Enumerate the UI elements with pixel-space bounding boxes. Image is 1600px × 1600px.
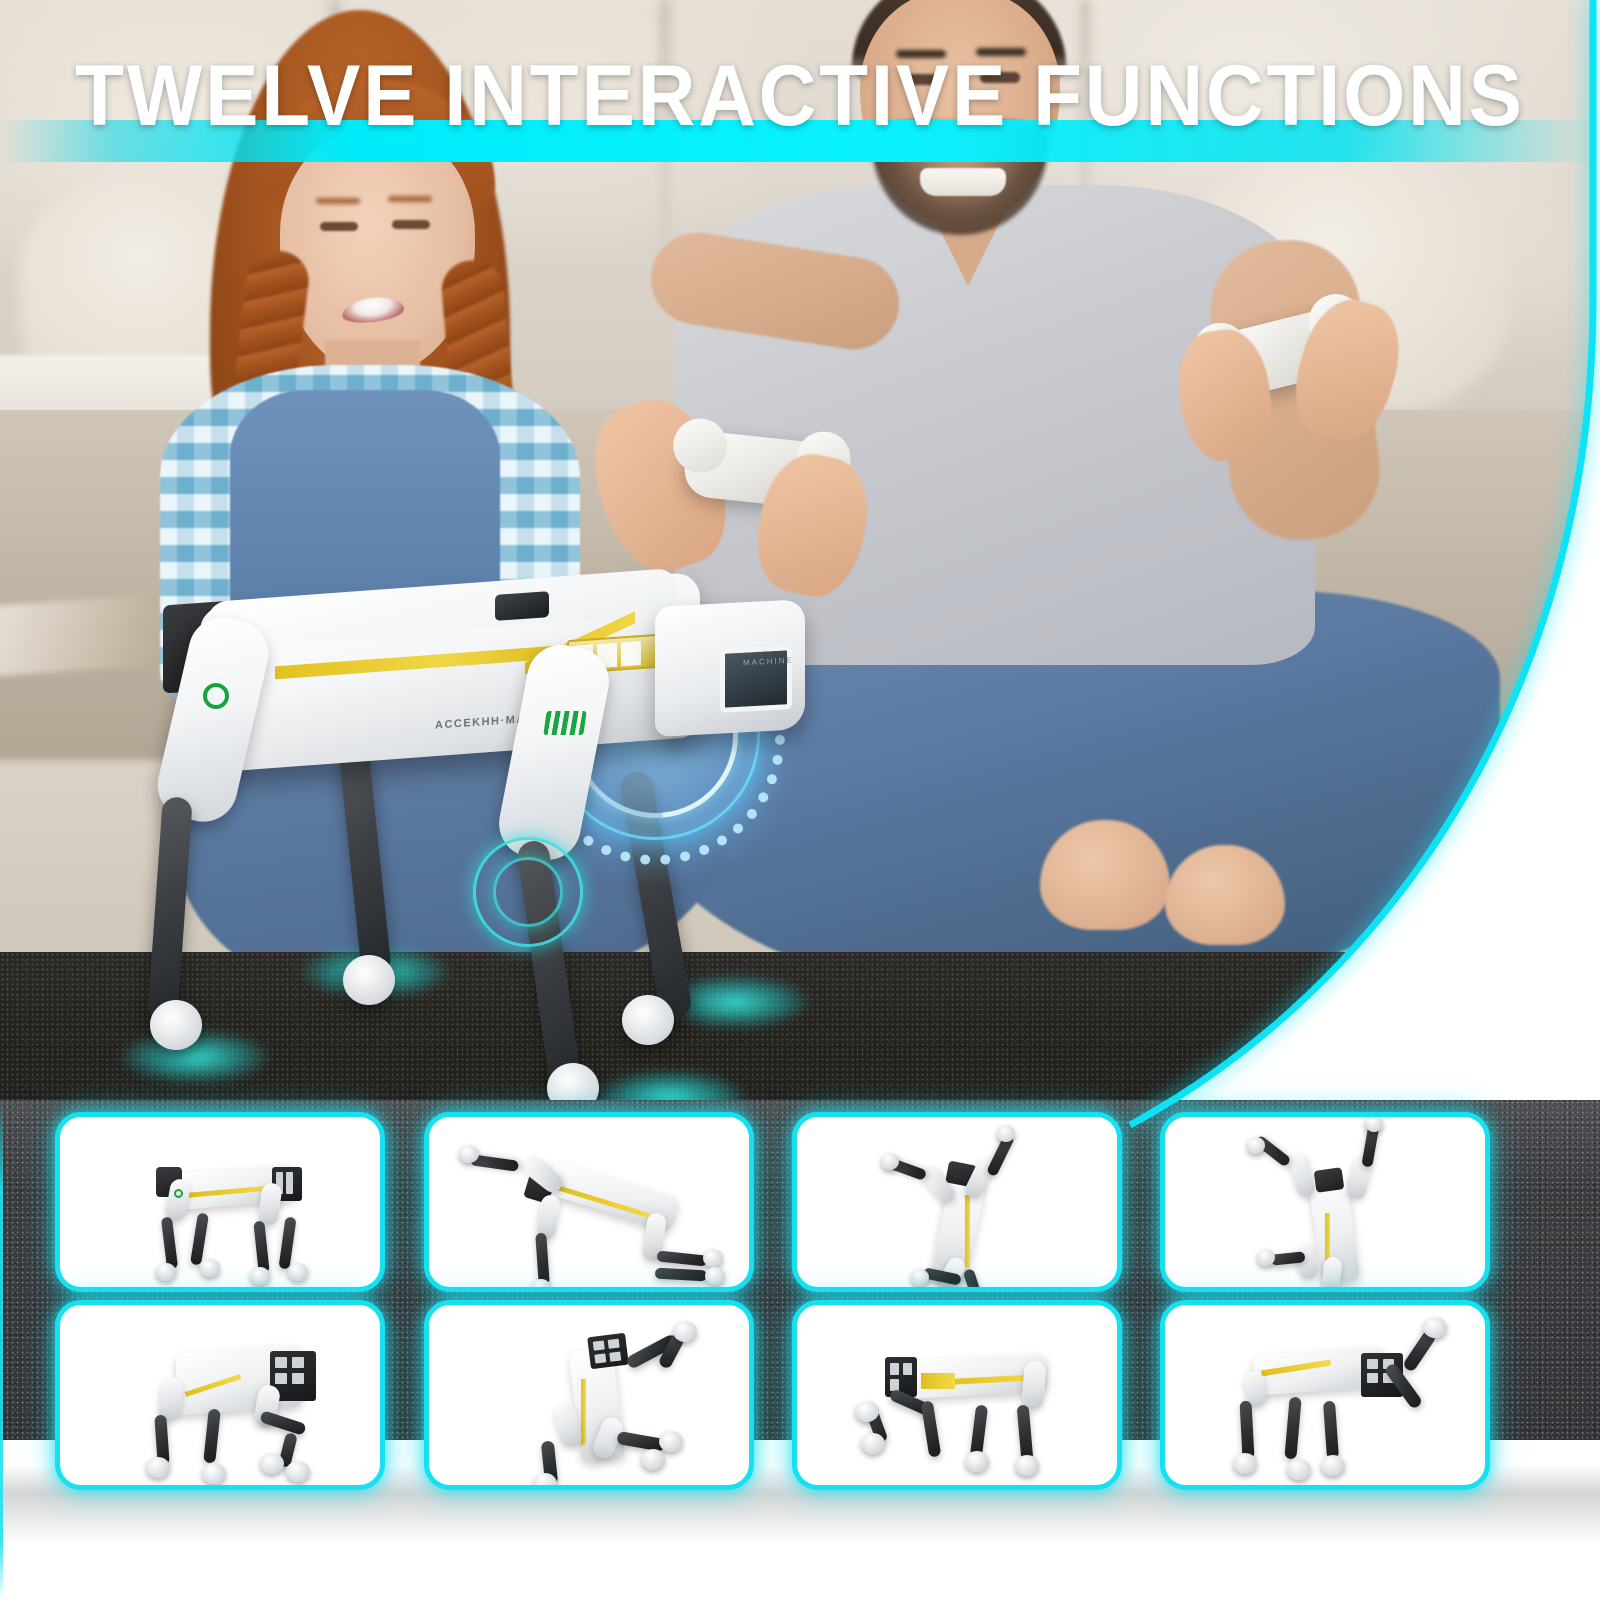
product-feature-page: ACCEKHH·MACHINE MACHINE [0, 0, 1600, 1600]
thumbnail-card-7[interactable] [792, 1300, 1122, 1490]
function-thumbnail-grid [0, 0, 1600, 1600]
thumb-pose-handstand-back [1165, 1117, 1485, 1287]
thumbnail-card-1[interactable] [55, 1112, 385, 1292]
thumb-pose-stretching-bow [429, 1117, 749, 1287]
thumb-pose-crouch-rear [60, 1305, 380, 1485]
thumb-pose-rearing-up [429, 1305, 749, 1485]
thumbnail-card-3[interactable] [792, 1112, 1122, 1292]
thumb-pose-handstand-front [797, 1117, 1117, 1287]
thumbnail-card-5[interactable] [55, 1300, 385, 1490]
thumbnail-card-2[interactable] [424, 1112, 754, 1292]
thumb-pose-standing [60, 1117, 380, 1287]
thumbnail-card-6[interactable] [424, 1300, 754, 1490]
left-edge-accent-line [0, 1100, 3, 1600]
thumbnail-card-8[interactable] [1160, 1300, 1490, 1490]
thumb-pose-lying-low [797, 1305, 1117, 1485]
thumbnail-card-4[interactable] [1160, 1112, 1490, 1292]
thumb-pose-wave-paw [1165, 1305, 1485, 1485]
